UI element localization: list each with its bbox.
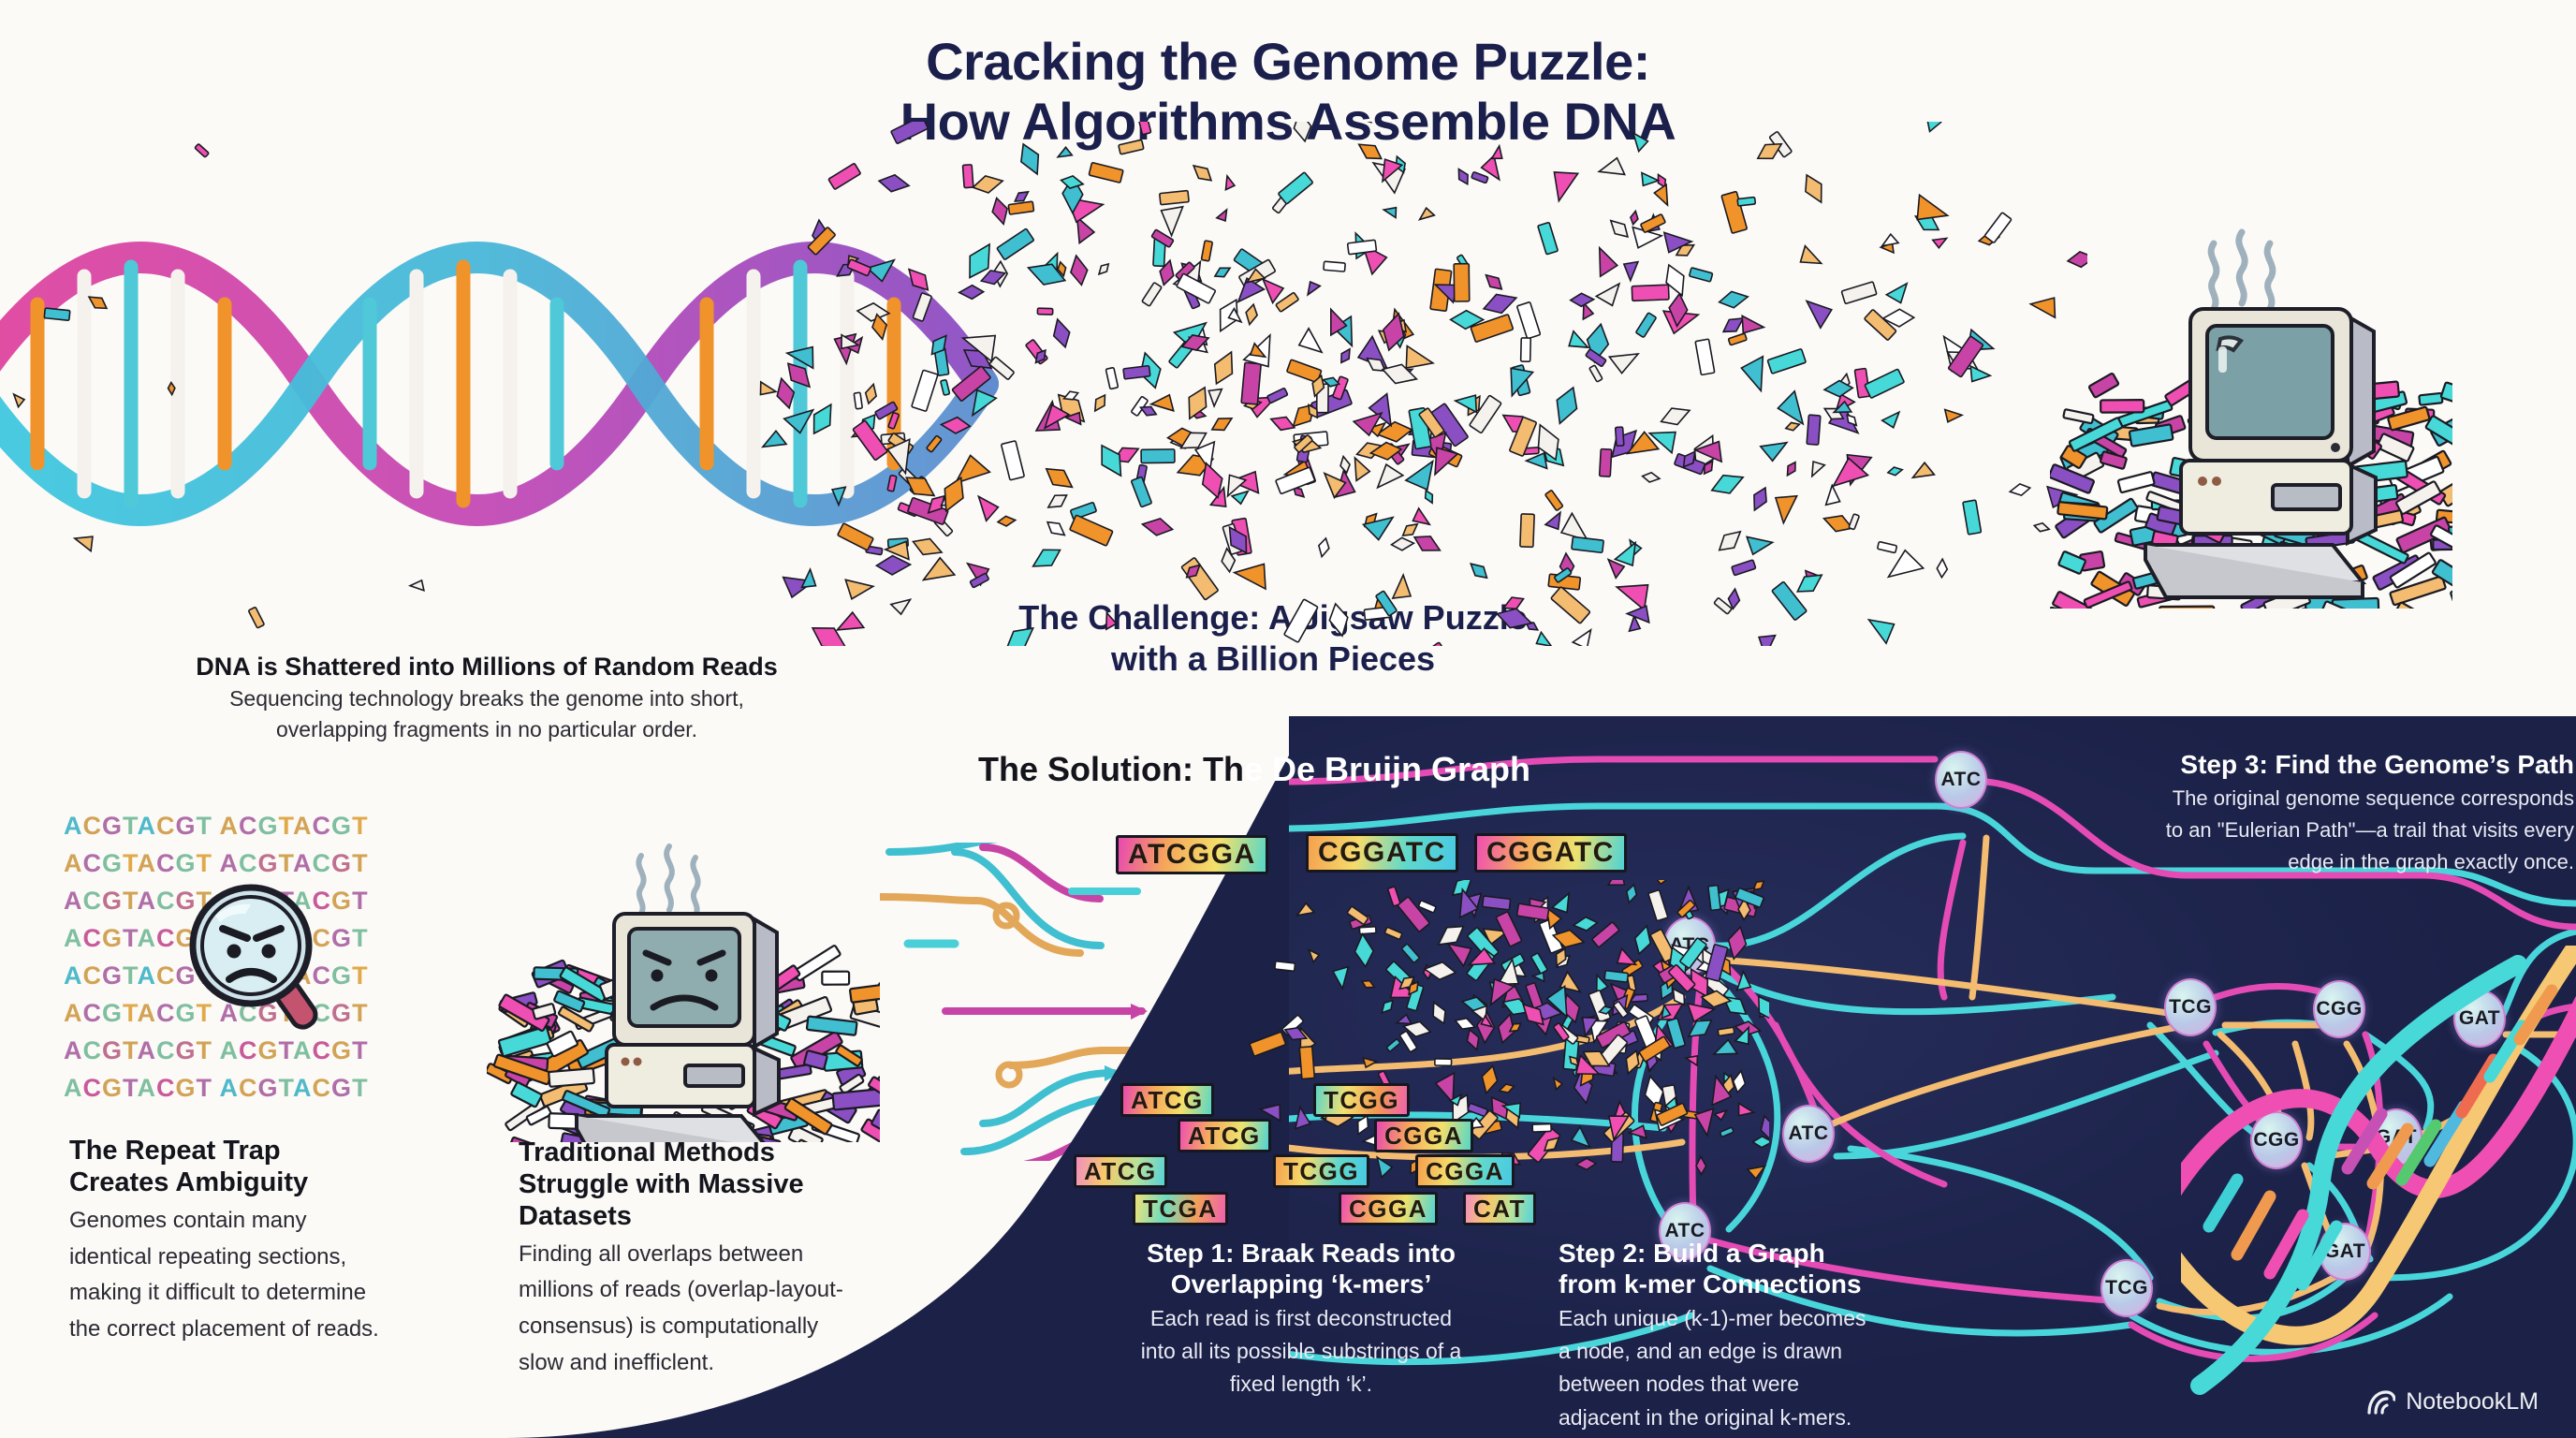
fragment-shard bbox=[989, 357, 1015, 380]
graph-node: TCG bbox=[2100, 1259, 2153, 1317]
fragment-shard bbox=[1648, 890, 1668, 921]
fragment-shard bbox=[1866, 609, 1899, 643]
retro-computer-icon bbox=[2050, 215, 2452, 609]
kmer-tags-group: ATCGATCGATCGTCGATCGGTCGGCGGACGGACGGACAT bbox=[1109, 1081, 1690, 1250]
magnifier-angry-face-icon bbox=[178, 878, 344, 1045]
fragment-shard bbox=[1924, 122, 1945, 134]
fragment-shard bbox=[1355, 139, 1385, 165]
fragment-shard bbox=[1769, 491, 1796, 525]
fragment-shard bbox=[1544, 164, 1577, 203]
fragment-shard bbox=[1564, 331, 1589, 356]
fragment-shard bbox=[1943, 410, 1962, 424]
fragment-shard bbox=[1391, 536, 1414, 551]
fragment-shard bbox=[1572, 536, 1603, 552]
fragment-shard bbox=[887, 475, 897, 492]
caption-body-line-2: identical repeating sections, bbox=[69, 1242, 462, 1272]
fragment-shard bbox=[1041, 462, 1077, 494]
fragment-shard bbox=[1984, 213, 2012, 243]
fragment-shard bbox=[1275, 961, 1295, 972]
fragment-shard bbox=[1217, 208, 1232, 223]
kmer-tag: TCGG bbox=[1313, 1083, 1410, 1117]
fragment-shard bbox=[1521, 338, 1531, 361]
fragment-shard bbox=[838, 523, 874, 550]
fragment-shard bbox=[1245, 303, 1259, 325]
caption-the-solution: The Solution: The De Bruijn Graph bbox=[978, 749, 1821, 789]
fragment-shard bbox=[891, 122, 929, 144]
caption-body-line-1: Genomes contain many bbox=[69, 1206, 462, 1236]
fragment-shard bbox=[918, 555, 955, 585]
fragment-shard bbox=[1749, 485, 1771, 513]
kmer-tag: CAT bbox=[1463, 1192, 1536, 1225]
fragment-shard bbox=[1595, 245, 1618, 276]
caption-body-line-1: Each unique (k-1)-mer becomes bbox=[1559, 1305, 1980, 1332]
fragment-shard bbox=[1137, 122, 1151, 135]
fragment-shard bbox=[1910, 461, 1934, 480]
fragment-shard bbox=[195, 143, 209, 157]
fragment-shard bbox=[1396, 1014, 1411, 1025]
fragment-shard bbox=[1044, 518, 1068, 539]
fragment-shard bbox=[1631, 129, 1650, 152]
paper-fragment bbox=[2063, 409, 2094, 423]
fragment-shard bbox=[1105, 367, 1118, 389]
fragment-shard bbox=[1806, 458, 1824, 477]
notebooklm-logo-icon bbox=[2367, 1390, 2395, 1415]
fragment-shard bbox=[1933, 236, 1949, 249]
fragment-shard bbox=[1150, 392, 1175, 410]
caption-body-line-4: adjacent in the original k-mers. bbox=[1559, 1404, 1980, 1431]
fragment-shard bbox=[1454, 1016, 1476, 1033]
graph-node: ATC bbox=[1782, 1105, 1835, 1163]
fragment-shard bbox=[1331, 965, 1348, 989]
caption-body-line-2: a node, and an edge is drawn bbox=[1559, 1338, 1980, 1365]
fragment-shard bbox=[1209, 413, 1236, 436]
fragment-shard bbox=[1517, 301, 1541, 338]
fragment-shard bbox=[1325, 602, 1352, 638]
fragment-shard bbox=[1454, 264, 1470, 301]
fragment-shard bbox=[1295, 329, 1325, 360]
fragment-shard bbox=[1630, 211, 1639, 225]
paper-fragment bbox=[2419, 393, 2442, 405]
fragment-shard bbox=[1690, 268, 1713, 282]
fragment-shard bbox=[1067, 254, 1090, 286]
fragment-shard bbox=[903, 264, 934, 295]
fragment-shard bbox=[1728, 333, 1747, 345]
fragment-shard bbox=[913, 293, 931, 322]
kmer-tag: ATCG bbox=[1074, 1154, 1167, 1188]
fragment-shard bbox=[1708, 468, 1747, 500]
infographic-canvas: Cracking the Genome Puzzle: How Algorith… bbox=[0, 0, 2576, 1438]
fragment-shard bbox=[1045, 490, 1070, 513]
fragment-shard bbox=[1416, 206, 1434, 222]
fragment-shard bbox=[1803, 292, 1837, 328]
fragment-shard bbox=[1284, 599, 1318, 642]
kmer-tag: CGGA bbox=[1374, 1119, 1473, 1152]
paper-fragment bbox=[2396, 602, 2437, 609]
fragment-shard bbox=[1705, 945, 1728, 982]
fragment-shard bbox=[1653, 184, 1671, 207]
fragment-shard bbox=[1882, 409, 1905, 430]
fragment-shard bbox=[1352, 455, 1371, 480]
caption-body-line-1: Each read is first deconstructed bbox=[1100, 1305, 1502, 1332]
fragment-shard bbox=[1726, 926, 1749, 961]
fragment-shard bbox=[1841, 282, 1877, 304]
fragment-shard bbox=[1798, 171, 1829, 207]
fragment-shard bbox=[1531, 953, 1548, 974]
fragment-shard bbox=[1422, 489, 1436, 505]
fragment-shard bbox=[1386, 1039, 1400, 1052]
fragment-shard bbox=[1737, 971, 1753, 992]
fragment-shard bbox=[1206, 386, 1222, 406]
fragment-shard bbox=[1096, 261, 1111, 277]
fragment-shard bbox=[1181, 557, 1219, 600]
kmer-tag: ATCG bbox=[1178, 1119, 1271, 1152]
caption-heading-line-1: Step 2: Build a Graph bbox=[1559, 1238, 1980, 1269]
fragment-shard bbox=[2033, 521, 2050, 533]
fragment-shard bbox=[1190, 161, 1216, 185]
fragment-shard bbox=[73, 530, 97, 551]
fragment-shard bbox=[1740, 357, 1766, 393]
kmer-tag: CGGA bbox=[1415, 1154, 1515, 1188]
fragment-shard bbox=[959, 285, 984, 301]
fragment-shard bbox=[1141, 517, 1173, 537]
fragment-shard bbox=[1481, 288, 1520, 319]
fragment-shard bbox=[1638, 173, 1659, 190]
fragment-shard bbox=[844, 580, 873, 600]
fragment-shard bbox=[1015, 140, 1046, 178]
fragment-shard bbox=[1963, 500, 1982, 535]
fragment-shard bbox=[888, 413, 900, 430]
fragment-shard bbox=[1720, 1127, 1734, 1137]
solution-text-dark-part: The Solution: Th bbox=[978, 750, 1244, 788]
fragment-shard bbox=[927, 435, 943, 452]
fragment-shard bbox=[1455, 167, 1472, 186]
caption-body-line-2: to an "Eulerian Path"—a trail that visit… bbox=[2012, 817, 2574, 844]
fragment-shard bbox=[1401, 944, 1419, 963]
fragment-shard bbox=[410, 579, 426, 591]
caption-heading: Step 3: Find the Genome’s Path bbox=[2012, 749, 2574, 780]
fragment-shard bbox=[1718, 1027, 1734, 1035]
fragment-shard bbox=[1225, 175, 1236, 189]
fragment-shard bbox=[1826, 485, 1842, 506]
fragment-shard bbox=[1131, 477, 1151, 507]
caption-body-line-4: the correct placement of reads. bbox=[69, 1314, 462, 1344]
fragment-shard bbox=[997, 515, 1016, 528]
fragment-shard bbox=[1317, 537, 1330, 558]
fragment-shard bbox=[1089, 163, 1123, 183]
fragment-shard bbox=[1737, 198, 1755, 206]
fragment-shard bbox=[1865, 369, 1904, 398]
fragment-shard bbox=[1538, 222, 1559, 254]
fragment-shard bbox=[1545, 490, 1563, 510]
paper-fragment bbox=[2118, 472, 2155, 493]
fragment-shard bbox=[1807, 415, 1821, 445]
fragment-shard bbox=[1712, 1038, 1737, 1058]
caption-body-line-1: The original genome sequence corresponds bbox=[2012, 785, 2574, 812]
caption-heading-line-2: from k-mer Connections bbox=[1559, 1269, 1980, 1299]
fragment-shard bbox=[1267, 388, 1288, 403]
fragment-shard bbox=[2009, 482, 2031, 498]
fragment-shard bbox=[1520, 514, 1534, 548]
fragment-shard bbox=[1435, 1059, 1452, 1065]
kmer-tag: TCGG bbox=[1273, 1154, 1369, 1188]
paper-fragment bbox=[2088, 373, 2118, 398]
fragment-shard bbox=[1250, 1032, 1286, 1056]
fragment-shard bbox=[1573, 627, 1598, 646]
caption-repeat-trap: The Repeat Trap Creates Ambiguity Genome… bbox=[69, 1136, 462, 1344]
assembled-dna-helix bbox=[2181, 946, 2576, 1438]
paper-fragment bbox=[2159, 607, 2214, 609]
fragment-shard bbox=[910, 535, 944, 560]
fragment-shard bbox=[1355, 122, 1372, 123]
fragment-shard bbox=[1002, 441, 1025, 480]
fragment-shard bbox=[1751, 991, 1769, 1026]
fragment-shard bbox=[1718, 288, 1749, 312]
fragment-shard bbox=[1123, 366, 1150, 379]
fragment-shard bbox=[1887, 465, 1903, 477]
caption-body-line-2: into all its possible substrings of a bbox=[1100, 1338, 1502, 1365]
fragment-shard bbox=[1761, 438, 1791, 462]
fragment-shard bbox=[1360, 978, 1375, 990]
watermark-label: NotebookLM bbox=[2406, 1388, 2539, 1416]
fragment-shard bbox=[1642, 472, 1660, 483]
fragment-shard bbox=[854, 392, 862, 409]
caption-step-3: Step 3: Find the Genome’s Path The origi… bbox=[2012, 749, 2574, 876]
fragment-shard bbox=[1715, 525, 1746, 556]
fragment-shard bbox=[1037, 308, 1052, 315]
fragment-shard bbox=[1233, 556, 1273, 589]
fragment-shard bbox=[1339, 455, 1352, 474]
fragment-shard bbox=[1213, 263, 1233, 280]
fragment-shard bbox=[1967, 366, 1991, 386]
fragment-shard bbox=[1090, 392, 1108, 414]
fragment-shard bbox=[1685, 1052, 1701, 1065]
caption-heading-line-2: Overlapping ‘k-mers’ bbox=[1100, 1269, 1502, 1299]
fragment-shard bbox=[1302, 279, 1320, 297]
title-line-1: Cracking the Genome Puzzle: bbox=[926, 32, 1650, 91]
fragment-shard bbox=[1732, 1070, 1746, 1093]
stray-confetti bbox=[0, 122, 842, 646]
fragment-shard bbox=[1937, 559, 1947, 578]
fragment-shard bbox=[1160, 191, 1189, 205]
fragment-shard bbox=[912, 370, 938, 411]
fragment-shard bbox=[1375, 419, 1413, 446]
fragment-shard bbox=[1008, 201, 1033, 214]
fragment-shard bbox=[1754, 631, 1775, 646]
fragment-shard bbox=[997, 228, 1034, 260]
fragment-shard bbox=[1201, 241, 1212, 261]
fragment-shard bbox=[974, 491, 1001, 521]
fragment-shard bbox=[1384, 927, 1402, 939]
fragment-shard bbox=[1496, 912, 1522, 946]
fragment-shard bbox=[1886, 281, 1913, 307]
steam-icon bbox=[2211, 232, 2273, 309]
fragment-shard bbox=[1767, 349, 1806, 374]
fragment-shard bbox=[1732, 560, 1756, 576]
fragment-shard bbox=[1715, 1108, 1730, 1122]
fragment-shard bbox=[1359, 927, 1376, 934]
fragment-shard bbox=[1596, 280, 1627, 310]
fragment-shard bbox=[1411, 531, 1443, 557]
fragment-shard bbox=[971, 171, 1004, 196]
fragment-shard bbox=[1299, 1047, 1314, 1079]
fragment-shard bbox=[1784, 460, 1799, 477]
fragment-shard bbox=[1632, 285, 1669, 301]
fragment-shard bbox=[1849, 514, 1859, 530]
fragment-shard bbox=[857, 303, 889, 322]
fragment-shard bbox=[1383, 203, 1399, 217]
fragment-shard bbox=[1427, 1000, 1450, 1026]
fragment-shard bbox=[1748, 1164, 1768, 1181]
fragment-shard bbox=[1599, 157, 1625, 176]
fragment-shard bbox=[868, 256, 900, 285]
fragment-shard bbox=[1471, 171, 1488, 183]
fragment-shard bbox=[1393, 574, 1415, 603]
shattered-fragments-cloud bbox=[730, 122, 2087, 646]
fragment-shard bbox=[1324, 261, 1345, 271]
fragment-shard bbox=[1604, 971, 1628, 982]
fragment-shard bbox=[1552, 891, 1577, 917]
read-tag: CGGATC bbox=[1474, 833, 1627, 873]
kmer-tag: TCGA bbox=[1133, 1192, 1228, 1225]
read-tag: CGGATC bbox=[1306, 833, 1458, 873]
fragment-shard bbox=[1795, 246, 1823, 273]
kmer-tag: ATCG bbox=[1120, 1083, 1214, 1117]
fragment-shard bbox=[1746, 536, 1773, 555]
caption-heading-line-1: Step 1: Braak Reads into bbox=[1100, 1238, 1502, 1269]
fragment-shard bbox=[248, 607, 264, 628]
fragment-shard bbox=[1291, 122, 1314, 143]
fragment-shard bbox=[86, 292, 110, 313]
caption-heading-line-1: The Repeat Trap bbox=[69, 1136, 462, 1167]
fragment-shard bbox=[1570, 292, 1594, 307]
fragment-shard bbox=[1734, 1104, 1754, 1121]
fragment-shard bbox=[941, 380, 950, 396]
fragment-shard bbox=[1695, 339, 1715, 374]
notebooklm-watermark: NotebookLM bbox=[2367, 1388, 2539, 1416]
fragment-shard bbox=[1878, 541, 1897, 552]
caption-step-1: Step 1: Braak Reads into Overlapping ‘k-… bbox=[1100, 1238, 1502, 1399]
caption-step-2: Step 2: Build a Graph from k-mer Connect… bbox=[1559, 1238, 1980, 1431]
fragment-shard bbox=[1483, 896, 1511, 910]
fragment-shard bbox=[1526, 983, 1543, 1009]
fragment-shard bbox=[1606, 216, 1632, 242]
sequence-row: ACGTACGT ACGTACGT bbox=[64, 807, 457, 844]
solution-text-light-part: e De Bruijn Graph bbox=[1244, 750, 1530, 788]
fragment-shard bbox=[44, 308, 70, 320]
fragment-shard bbox=[1426, 642, 1461, 646]
paper-fragment bbox=[2440, 382, 2452, 411]
paper-fragment bbox=[2100, 400, 2144, 413]
fragment-shard bbox=[891, 596, 915, 616]
fragment-shard bbox=[1658, 402, 1692, 431]
caption-body-line-3: fixed length ‘k’. bbox=[1100, 1371, 1502, 1398]
fragment-shard bbox=[1353, 932, 1376, 967]
graph-node: ATC bbox=[1935, 751, 1987, 809]
fragment-shard bbox=[1061, 175, 1084, 190]
sequence-row: ACGTACGT ACGTACGT bbox=[64, 1069, 457, 1107]
fragment-shard bbox=[1056, 146, 1072, 159]
fragment-shard bbox=[1232, 489, 1251, 506]
fragment-shard bbox=[1533, 632, 1553, 646]
fragment-shard bbox=[1119, 139, 1144, 154]
fragment-shard bbox=[878, 173, 910, 193]
fragment-shard bbox=[1482, 271, 1506, 293]
fragment-shard bbox=[1362, 1058, 1377, 1068]
fragment-shard bbox=[1070, 515, 1113, 546]
fragment-shard bbox=[1418, 901, 1436, 913]
fragment-shard bbox=[1029, 542, 1064, 575]
fragment-shard bbox=[1614, 572, 1656, 610]
fragment-shard bbox=[962, 165, 973, 188]
fragment-shard bbox=[1308, 946, 1321, 961]
fragment-shard bbox=[988, 196, 1011, 226]
fragment-shard bbox=[1241, 362, 1261, 404]
fragment-shard bbox=[1695, 1156, 1706, 1175]
read-tag: ATCGGA bbox=[1116, 835, 1268, 874]
fragment-shard bbox=[1049, 317, 1075, 350]
fragment-shard bbox=[1141, 449, 1175, 463]
fragment-shard bbox=[1142, 283, 1162, 307]
fragment-shard bbox=[1467, 560, 1491, 582]
caption-body-line-3: making it difficult to determine bbox=[69, 1278, 462, 1308]
fragment-shard bbox=[1592, 922, 1620, 947]
caption-body-line-3: between nodes that were bbox=[1559, 1371, 1980, 1398]
fragment-shard bbox=[941, 418, 970, 433]
fragment-shard bbox=[1348, 240, 1377, 255]
fragment-shard bbox=[1620, 259, 1637, 282]
fragment-shard bbox=[1379, 997, 1396, 1016]
fragment-shard bbox=[1295, 902, 1314, 917]
fragment-shard bbox=[864, 383, 879, 404]
kmer-tag: CGGA bbox=[1339, 1192, 1438, 1225]
fragment-shard bbox=[1001, 621, 1038, 646]
fragment-shard bbox=[1551, 587, 1590, 624]
caption-heading-line-2: Creates Ambiguity bbox=[69, 1167, 462, 1199]
fragment-shard bbox=[1208, 348, 1239, 388]
fragment-shard bbox=[1600, 449, 1612, 477]
fragment-shard bbox=[1589, 365, 1603, 382]
fragment-shard bbox=[1268, 413, 1296, 433]
caption-body-line-3: edge in the graph exactly once. bbox=[2012, 849, 2574, 875]
fragment-shard bbox=[1632, 924, 1654, 956]
fragment-shard bbox=[1752, 1136, 1769, 1148]
fragment-shard bbox=[1785, 420, 1801, 433]
fragment-shard bbox=[1635, 313, 1656, 338]
fragment-shard bbox=[1609, 349, 1642, 375]
fragment-shard bbox=[1338, 346, 1354, 365]
fragment-shard bbox=[1070, 502, 1096, 520]
fragment-shard bbox=[1278, 172, 1312, 204]
caption-body-line-1: Sequencing technology breaks the genome … bbox=[131, 685, 842, 712]
fragment-shard bbox=[168, 382, 176, 395]
read-tags-group: ATCGGACGGATCCGGATC bbox=[1067, 829, 1778, 894]
fragment-shard bbox=[12, 391, 26, 407]
fragment-shard bbox=[1573, 916, 1598, 932]
fragment-shard bbox=[1616, 427, 1624, 446]
sequence-row: ACGTACGT ACGTACGT bbox=[64, 844, 457, 882]
fragment-shard bbox=[1105, 611, 1118, 629]
fragment-shard bbox=[1551, 384, 1583, 427]
